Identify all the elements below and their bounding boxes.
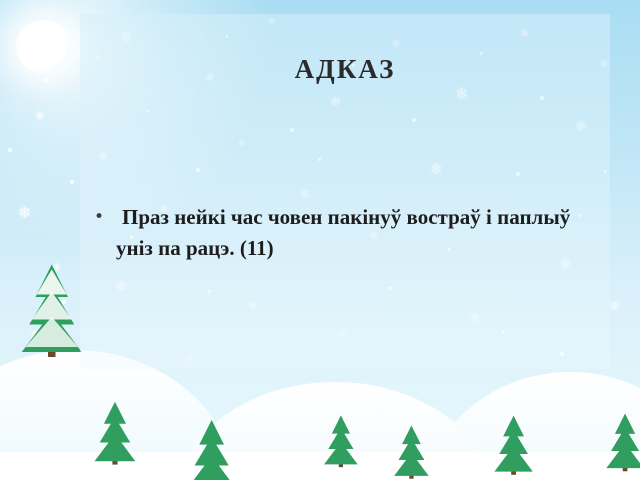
fir-tree-icon	[604, 412, 640, 473]
content-panel: АДКАЗ • Праз нейкі час човен пакінуў вос…	[80, 14, 610, 369]
snow-dot	[70, 180, 74, 184]
fir-tree-icon	[92, 400, 138, 466]
fir-tree-icon	[186, 418, 237, 480]
body-text: Праз нейкі час човен пакінуў востраў і п…	[116, 202, 590, 264]
snow-dot	[8, 148, 12, 152]
fir-tree-icon	[392, 424, 431, 480]
bullet-marker-icon: •	[90, 202, 116, 232]
fir-tree-icon	[322, 414, 360, 469]
fir-tree-icon	[18, 262, 86, 360]
snowflake-icon: ❄	[35, 110, 45, 122]
snow-dot	[44, 78, 49, 83]
fir-tree-icon	[492, 414, 535, 476]
snowflake-icon: ❄	[610, 300, 620, 312]
snowflake-icon: ❄	[18, 205, 31, 221]
bullet-list-item: • Праз нейкі час човен пакінуў востраў і…	[90, 202, 590, 264]
page-title: АДКАЗ	[80, 54, 610, 85]
moon-icon	[16, 20, 70, 74]
slide-canvas: ❄❄❄❄❄❄❄❄❄❄❄❄❄❄❄❄❄❄❄❄❄❄❄❄❄❄❄ АДКАЗ • Праз…	[0, 0, 640, 480]
